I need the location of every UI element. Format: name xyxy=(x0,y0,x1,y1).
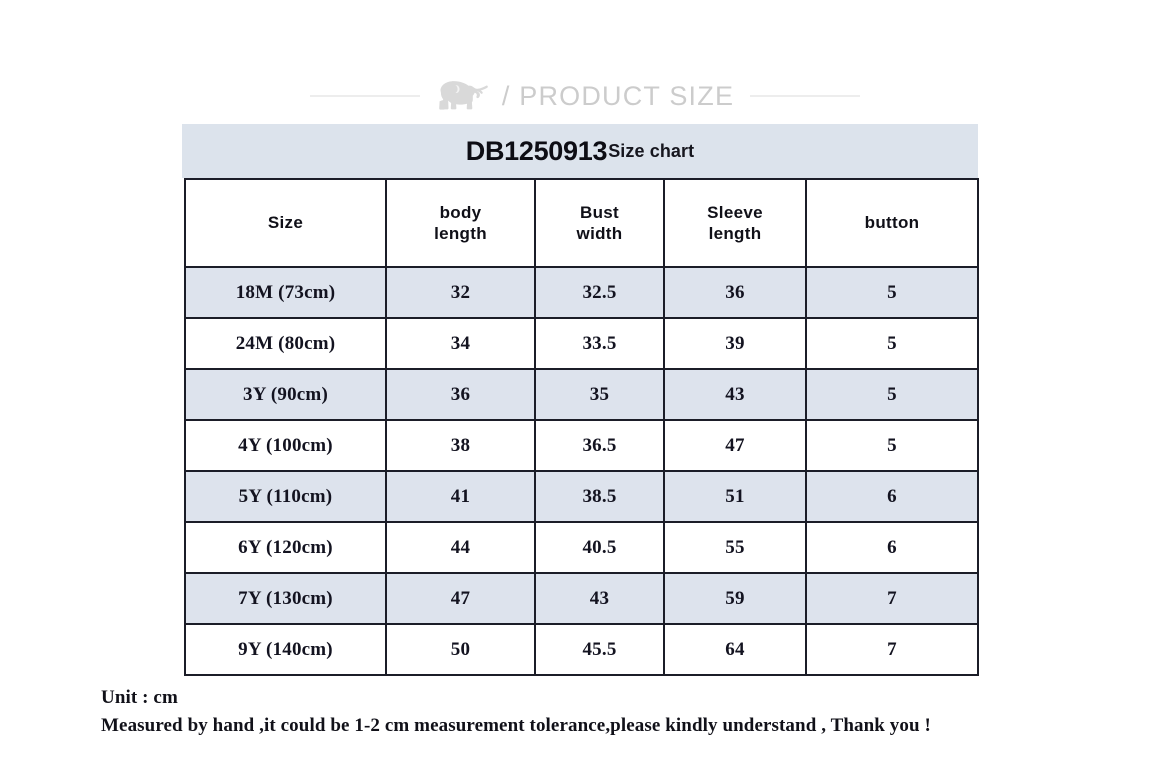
cell-body-length: 38 xyxy=(386,420,535,471)
cell-size: 18M (73cm) xyxy=(185,267,386,318)
cell-size: 24M (80cm) xyxy=(185,318,386,369)
cell-sleeve-length: 43 xyxy=(664,369,806,420)
cell-size: 5Y (110cm) xyxy=(185,471,386,522)
cell-body-length: 44 xyxy=(386,522,535,573)
cell-sleeve-length: 36 xyxy=(664,267,806,318)
table-row: 6Y (120cm) 44 40.5 55 6 xyxy=(185,522,978,573)
cell-bust-width: 33.5 xyxy=(535,318,664,369)
cell-sleeve-length: 51 xyxy=(664,471,806,522)
cell-button: 7 xyxy=(806,624,978,675)
table-row: 7Y (130cm) 47 43 59 7 xyxy=(185,573,978,624)
cell-button: 5 xyxy=(806,267,978,318)
elephant-logo-icon xyxy=(434,78,496,114)
size-chart: DB1250913 Size chart Size body length Bu… xyxy=(182,124,978,676)
cell-bust-width: 43 xyxy=(535,573,664,624)
cell-sleeve-length: 59 xyxy=(664,573,806,624)
cell-bust-width: 32.5 xyxy=(535,267,664,318)
cell-sleeve-length: 47 xyxy=(664,420,806,471)
cell-bust-width: 45.5 xyxy=(535,624,664,675)
cell-sleeve-length: 55 xyxy=(664,522,806,573)
cell-body-length: 50 xyxy=(386,624,535,675)
cell-body-length: 47 xyxy=(386,573,535,624)
cell-size: 6Y (120cm) xyxy=(185,522,386,573)
table-row: 5Y (110cm) 41 38.5 51 6 xyxy=(185,471,978,522)
cell-size: 7Y (130cm) xyxy=(185,573,386,624)
cell-sleeve-length: 64 xyxy=(664,624,806,675)
cell-bust-width: 40.5 xyxy=(535,522,664,573)
cell-button: 7 xyxy=(806,573,978,624)
cell-button: 6 xyxy=(806,522,978,573)
cell-body-length: 36 xyxy=(386,369,535,420)
note-tolerance: Measured by hand ,it could be 1-2 cm mea… xyxy=(101,712,931,740)
cell-button: 6 xyxy=(806,471,978,522)
cell-size: 9Y (140cm) xyxy=(185,624,386,675)
size-chart-table: Size body length Bust width Sleeve lengt… xyxy=(184,178,979,676)
cell-bust-width: 35 xyxy=(535,369,664,420)
chart-title-band: DB1250913 Size chart xyxy=(182,124,978,178)
cell-size: 4Y (100cm) xyxy=(185,420,386,471)
cell-body-length: 32 xyxy=(386,267,535,318)
cell-button: 5 xyxy=(806,369,978,420)
section-heading: / PRODUCT SIZE xyxy=(0,74,1170,118)
note-unit: Unit : cm xyxy=(101,684,931,712)
divider-right xyxy=(750,95,860,97)
cell-bust-width: 38.5 xyxy=(535,471,664,522)
chart-title-label: Size chart xyxy=(607,142,694,160)
chart-title-code: DB1250913 xyxy=(466,138,607,165)
table-row: 4Y (100cm) 38 36.5 47 5 xyxy=(185,420,978,471)
cell-sleeve-length: 39 xyxy=(664,318,806,369)
table-row: 18M (73cm) 32 32.5 36 5 xyxy=(185,267,978,318)
table-row: 3Y (90cm) 36 35 43 5 xyxy=(185,369,978,420)
table-row: 24M (80cm) 34 33.5 39 5 xyxy=(185,318,978,369)
cell-button: 5 xyxy=(806,318,978,369)
cell-size: 3Y (90cm) xyxy=(185,369,386,420)
cell-body-length: 34 xyxy=(386,318,535,369)
column-header-bust-width: Bust width xyxy=(535,179,664,267)
column-header-size: Size xyxy=(185,179,386,267)
footer-notes: Unit : cm Measured by hand ,it could be … xyxy=(101,684,931,740)
cell-body-length: 41 xyxy=(386,471,535,522)
table-row: 9Y (140cm) 50 45.5 64 7 xyxy=(185,624,978,675)
cell-button: 5 xyxy=(806,420,978,471)
table-header-row: Size body length Bust width Sleeve lengt… xyxy=(185,179,978,267)
column-header-button: button xyxy=(806,179,978,267)
cell-bust-width: 36.5 xyxy=(535,420,664,471)
column-header-body-length: body length xyxy=(386,179,535,267)
section-heading-text: / PRODUCT SIZE xyxy=(496,81,734,112)
divider-left xyxy=(310,95,420,97)
column-header-sleeve-length: Sleeve length xyxy=(664,179,806,267)
